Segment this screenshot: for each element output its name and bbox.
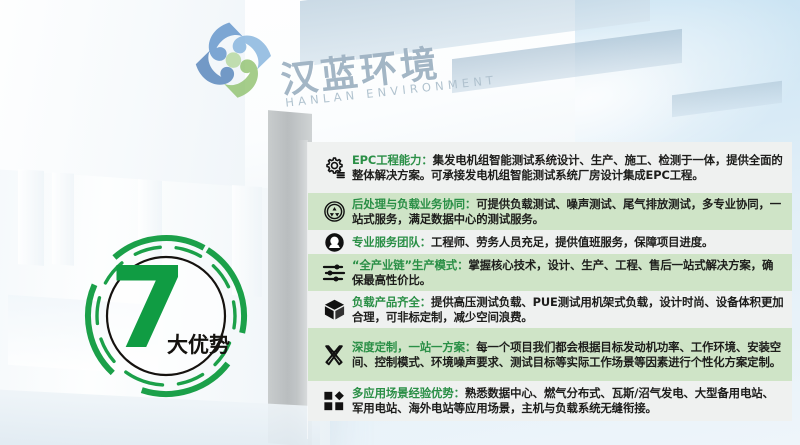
advantages-panel: EPC工程能力：集发电机组智能测试系统设计、生产、施工、检测于一体，提供全面的整… [307,142,792,439]
advantage-separator: ： [420,235,431,249]
advantage-separator: ： [454,386,465,400]
advantage-separator: ： [421,153,432,167]
advantage-title: 后处理与负载业务协同 [352,197,465,211]
advantage-separator: ： [457,258,468,272]
advantage-row[interactable]: 深度定制，一站一方案：每一个项目我们都会根据目标发动机功率、工作环境、安装空间、… [308,328,792,381]
advantage-separator: ： [420,295,431,309]
crossed-tools-icon [316,343,352,367]
advantage-row[interactable]: 多应用场景经验优势：熟悉数据中心、燃气分布式、瓦斯/沼气发电、大型备用电站、军用… [308,381,792,421]
advantage-text: 多应用场景经验优势：熟悉数据中心、燃气分布式、瓦斯/沼气发电、大型备用电站、军用… [352,386,786,416]
advantage-text: 后处理与负载业务协同：可提供负载测试、噪声测试、尾气排放测试，多专业协同，一站式… [352,197,786,227]
building-pillar [18,169,44,266]
advantage-title: “全产业链”生产模式 [352,258,457,272]
advantage-text: 深度定制，一站一方案：每一个项目我们都会根据目标发动机功率、工作环境、安装空间、… [352,340,786,370]
advantage-separator: ： [465,197,476,211]
advantage-row[interactable]: 负载产品齐全：提供高压测试负载、PUE测试用机架式负载，设计时尚、设备体积更加合… [308,291,792,328]
advantage-text: 专业服务团队：工程师、劳务人员充足，提供值班服务，保障项目进度。 [352,235,786,250]
gear-settings-icon [316,156,352,179]
cube-box-icon [316,298,352,321]
advantage-body: 工程师、劳务人员充足，提供值班服务，保障项目进度。 [431,235,713,249]
advantage-row[interactable]: 专业服务团队：工程师、劳务人员充足，提供值班服务，保障项目进度。 [308,230,792,254]
hanlan-swirl-logo-icon [186,13,281,108]
advantage-text: 负载产品齐全：提供高压测试负载、PUE测试用机架式负载，设计时尚、设备体积更加合… [352,295,786,325]
recycle-circle-icon [316,200,352,223]
badge-label: 大优势 [167,329,230,359]
sliders-adjust-icon [316,262,352,284]
advantage-row[interactable]: “全产业链”生产模式：掌握核心技术，设计、生产、工程、售后一站式解决方案，确保最… [308,254,792,291]
advantage-row[interactable]: EPC工程能力：集发电机组智能测试系统设计、生产、施工、检测于一体，提供全面的整… [308,142,792,193]
building-pillar [52,172,74,266]
advantage-separator: ： [465,340,476,354]
advantage-text: “全产业链”生产模式：掌握核心技术，设计、生产、工程、售后一站式解决方案，确保最… [352,258,786,288]
grid-squares-icon [316,390,352,412]
advantage-count-badge: 7 大优势 [83,233,249,399]
advantage-title: 专业服务团队 [352,235,420,249]
advantage-title: EPC工程能力 [352,153,421,167]
advantage-row[interactable]: 后处理与负载业务协同：可提供负载测试、噪声测试、尾气排放测试，多专业协同，一站式… [308,193,792,230]
advantage-title: 负载产品齐全 [352,295,420,309]
advantage-title: 多应用场景经验优势 [352,386,454,400]
advantage-title: 深度定制，一站一方案 [352,340,465,354]
headset-support-icon [316,231,352,254]
advantage-text: EPC工程能力：集发电机组智能测试系统设计、生产、施工、检测于一体，提供全面的整… [352,153,786,183]
